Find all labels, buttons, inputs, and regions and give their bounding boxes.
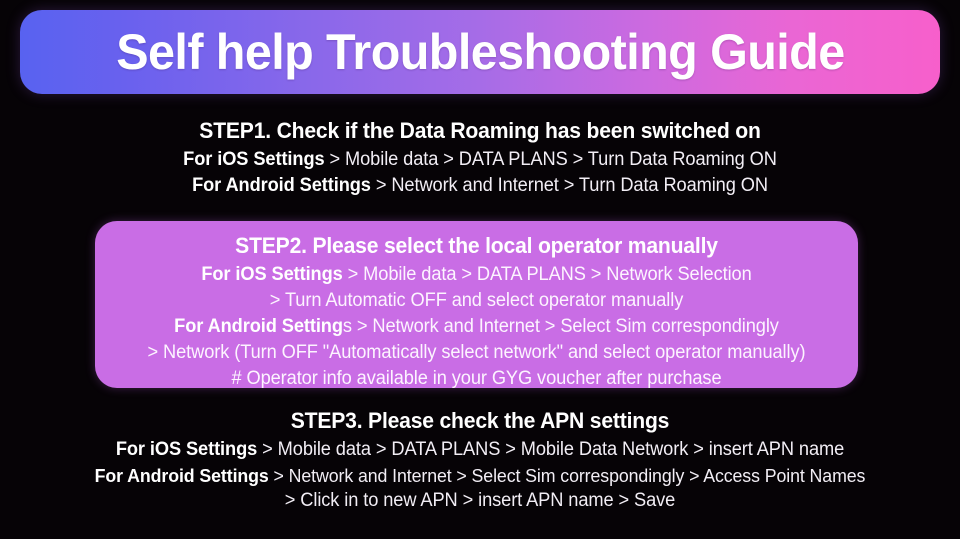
step2-line-ios-label: For iOS Settings — [201, 264, 342, 285]
step2-heading: STEP2. Please select the local operator … — [110, 232, 842, 259]
step3-line-android-path: > Network and Internet > Select Sim corr… — [269, 465, 866, 486]
step3-line-ios-label: For iOS Settings — [116, 439, 257, 460]
step2-line-ios-cont: > Turn Automatic OFF and select operator… — [110, 288, 842, 314]
step1-line-ios: For iOS Settings > Mobile data > DATA PL… — [19, 147, 941, 173]
step2-note: # Operator info available in your GYG vo… — [110, 366, 842, 392]
step3-line-ios-path: > Mobile data > DATA PLANS > Mobile Data… — [257, 439, 844, 460]
step2-line-ios-cont-text: > Turn Automatic OFF and select operator… — [270, 290, 684, 311]
step1-line-android: For Android Settings > Network and Inter… — [19, 173, 941, 199]
step2-section: STEP2. Please select the local operator … — [95, 232, 858, 391]
step2-card: STEP2. Please select the local operator … — [95, 221, 858, 388]
step2-line-ios-path: > Mobile data > DATA PLANS > Network Sel… — [343, 264, 752, 285]
step1-line-ios-path: > Mobile data > DATA PLANS > Turn Data R… — [325, 149, 777, 170]
step2-line-android-path: s > Network and Internet > Select Sim co… — [343, 316, 779, 337]
page-title: Self help Troubleshooting Guide — [116, 27, 844, 77]
step2-line-android: For Android Settings > Network and Inter… — [110, 314, 842, 340]
step1-line-android-path: > Network and Internet > Turn Data Roami… — [371, 175, 768, 196]
step1-line-ios-label: For iOS Settings — [183, 149, 324, 170]
step1-heading: STEP1. Check if the Data Roaming has bee… — [19, 117, 941, 144]
step3-line-ios: For iOS Settings > Mobile data > DATA PL… — [19, 437, 941, 463]
step2-line-android-label: For Android Setting — [174, 316, 343, 337]
step1-line-android-label: For Android Settings — [192, 175, 371, 196]
header-banner: Self help Troubleshooting Guide — [20, 10, 940, 94]
step2-line-android-cont-text: > Network (Turn OFF "Automatically selec… — [148, 342, 806, 363]
step2-line-android-cont: > Network (Turn OFF "Automatically selec… — [110, 340, 842, 366]
step1-section: STEP1. Check if the Data Roaming has bee… — [0, 117, 960, 199]
step3-line-cont-text: > Click in to new APN > insert APN name … — [285, 490, 675, 511]
step3-line-android-label: For Android Settings — [95, 465, 269, 486]
step2-line-ios: For iOS Settings > Mobile data > DATA PL… — [110, 262, 842, 288]
step3-line-cont: > Click in to new APN > insert APN name … — [19, 488, 941, 514]
step3-line-android: For Android Settings > Network and Inter… — [19, 463, 941, 488]
step2-note-text: # Operator info available in your GYG vo… — [231, 368, 721, 389]
step3-section: STEP3. Please check the APN settings For… — [0, 407, 960, 514]
step3-heading: STEP3. Please check the APN settings — [19, 407, 941, 434]
troubleshooting-guide-poster: Self help Troubleshooting Guide STEP1. C… — [0, 0, 960, 539]
